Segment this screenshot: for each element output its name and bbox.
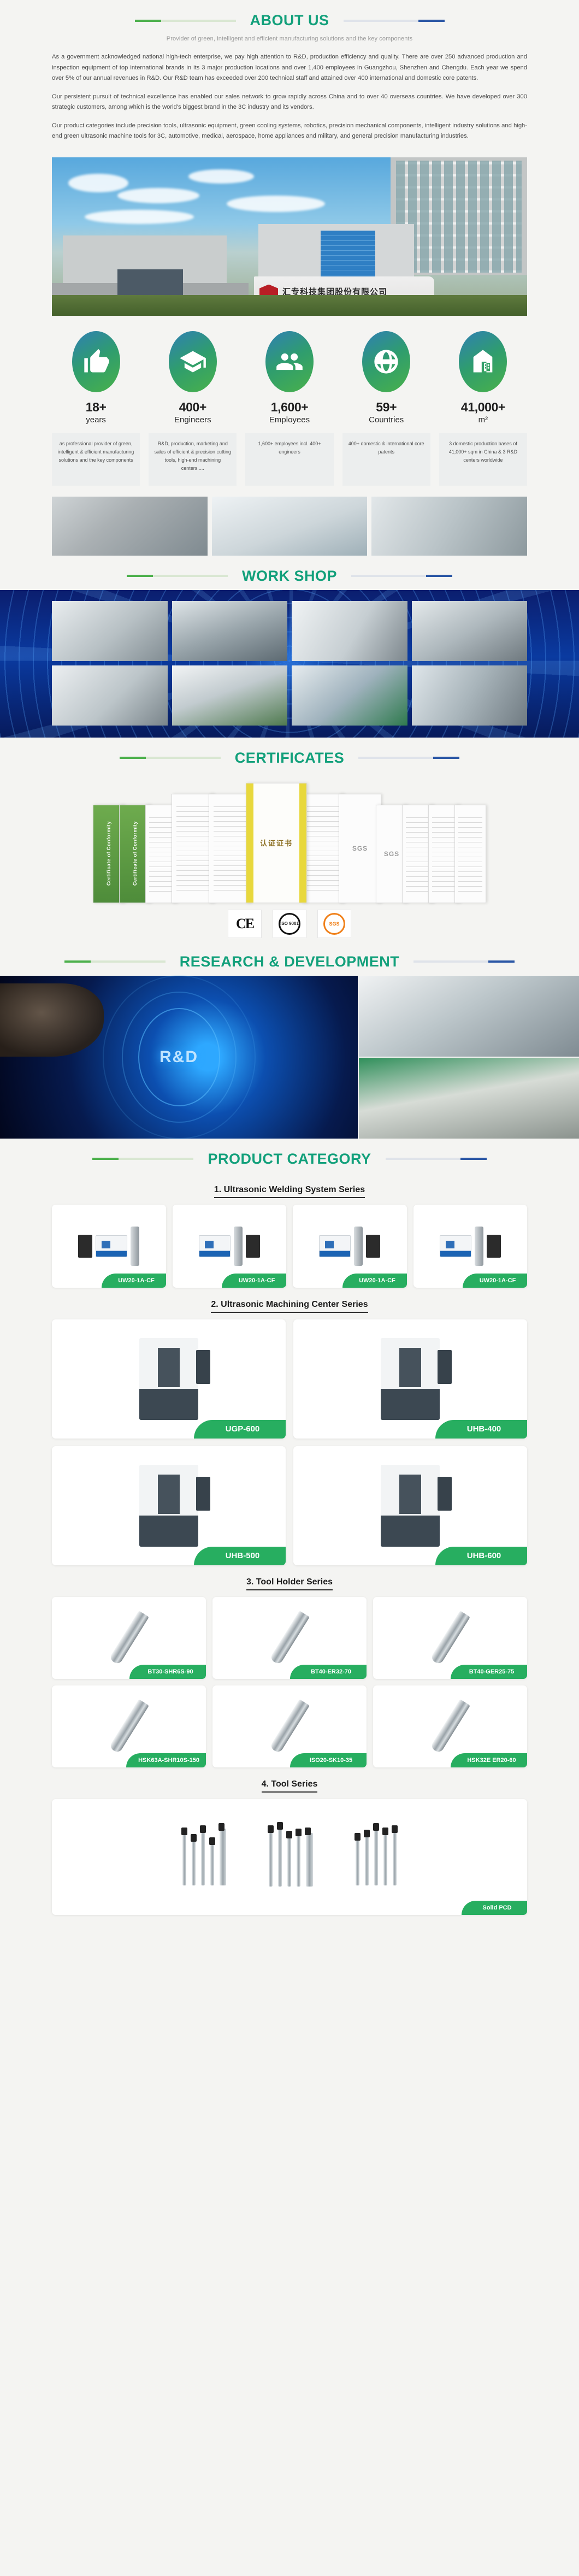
product-label: UW20-1A-CF [463, 1274, 527, 1288]
stat-label: years [52, 415, 140, 425]
iso-9001-logo: ISO 9001 [273, 910, 306, 938]
workshop-title: WORK SHOP [228, 568, 351, 585]
stat-description: as professional provider of green, intel… [52, 433, 140, 486]
product-row-welding: UW20-1A-CF UW20-1A-CF UW20-1A-CF UW20-1A… [52, 1205, 527, 1288]
product-row-machining-2: UHB-500 UHB-600 [52, 1446, 527, 1565]
product-group-heading: 3. Tool Holder Series [52, 1577, 527, 1587]
product-label: HSK63A-SHR10S-150 [126, 1753, 206, 1767]
photo-engineering-meeting [371, 497, 527, 556]
certificates-section-header: CERTIFICATES [0, 738, 579, 772]
product-card[interactable]: UW20-1A-CF [52, 1205, 166, 1288]
product-row-toolholder-2: HSK63A-SHR10S-150 ISO20-SK10-35 HSK32E E… [52, 1685, 527, 1767]
stat-label: Employees [245, 415, 333, 425]
product-label: HSK32E ER20-60 [451, 1753, 527, 1767]
rd-photo-team-inspection [359, 976, 579, 1057]
heading-rule-left [64, 960, 166, 963]
workshop-photo [52, 665, 168, 726]
products-title: PRODUCT CATEGORY [193, 1151, 385, 1168]
heading-rule-left [127, 575, 228, 577]
certificate-title-cn: 认证证书 [260, 838, 293, 848]
product-card[interactable]: UW20-1A-CF [173, 1205, 287, 1288]
heading-rule-right [386, 1158, 487, 1160]
heading-rule-left [92, 1158, 193, 1160]
heading-rule-right [351, 575, 452, 577]
stat-employees: 1,600+ Employees 1,600+ employees incl. … [245, 331, 333, 486]
product-label: UHB-600 [435, 1547, 527, 1565]
product-label: UHB-500 [194, 1547, 286, 1565]
workshop-photo [412, 665, 528, 726]
tool-bit-group [356, 1829, 397, 1885]
thumbs-up-icon [72, 331, 120, 392]
product-card[interactable]: ISO20-SK10-35 [212, 1685, 367, 1767]
stat-number: 59+ [342, 400, 430, 415]
product-card[interactable]: UGP-600 [52, 1319, 286, 1439]
office-photo-strip [0, 488, 579, 556]
about-paragraph-3: Our product categories include precision… [52, 121, 527, 142]
product-card[interactable]: UW20-1A-CF [293, 1205, 407, 1288]
product-card[interactable]: Solid PCD [52, 1799, 527, 1915]
product-label: UW20-1A-CF [222, 1274, 286, 1288]
product-label: ISO20-SK10-35 [290, 1753, 367, 1767]
certificates-title: CERTIFICATES [221, 750, 359, 767]
products-section-header: PRODUCT CATEGORY [0, 1139, 579, 1173]
product-label: UW20-1A-CF [342, 1274, 407, 1288]
company-profile-page: ABOUT US Provider of green, intelligent … [0, 0, 579, 1920]
stat-number: 400+ [149, 400, 237, 415]
headquarters-photo: 汇专科技集团股份有限公司 CONPROFE TECHNOLOGY GROUP C… [52, 157, 527, 316]
stat-years: 18+ years as professional provider of gr… [52, 331, 140, 486]
rd-title: RESEARCH & DEVELOPMENT [166, 953, 414, 970]
product-card[interactable]: UHB-600 [293, 1446, 527, 1565]
certificates-gallery: Certificate of Conformity Certificate of… [0, 772, 579, 941]
rd-person [0, 983, 104, 1057]
about-subtitle: Provider of green, intelligent and effic… [0, 36, 579, 42]
stat-description: 3 domestic production bases of 41,000+ s… [439, 433, 527, 486]
rd-hero-image: R&D [0, 976, 358, 1139]
stat-number: 1,600+ [245, 400, 333, 415]
graduation-cap-icon [169, 331, 217, 392]
about-title: ABOUT US [236, 12, 344, 29]
stat-countries: 59+ Countries 400+ domestic & internatio… [342, 331, 430, 486]
product-label: UW20-1A-CF [102, 1274, 166, 1288]
product-card[interactable]: HSK63A-SHR10S-150 [52, 1685, 206, 1767]
workshop-photo [172, 665, 288, 726]
stat-number: 18+ [52, 400, 140, 415]
product-label: BT40-GER25-75 [451, 1665, 527, 1679]
heading-rule-left [135, 20, 236, 22]
product-groups: 1. Ultrasonic Welding System Series UW20… [0, 1185, 579, 1920]
workshop-section-header: WORK SHOP [0, 556, 579, 590]
heading-rule-right [344, 20, 445, 22]
workshop-photo [292, 601, 407, 661]
blue-curtain-wall [321, 231, 375, 280]
certificate-page [454, 805, 486, 903]
product-group-heading: 2. Ultrasonic Machining Center Series [52, 1300, 527, 1310]
sgs-watermark: SGS [352, 845, 368, 852]
product-row-machining-1: UGP-600 UHB-400 [52, 1319, 527, 1439]
stat-area: 41,000+ m² 3 domestic production bases o… [439, 331, 527, 486]
certificate-page [302, 794, 344, 903]
rd-gallery: R&D [0, 976, 579, 1139]
stat-label: m² [439, 415, 527, 425]
rd-section-header: RESEARCH & DEVELOPMENT [0, 941, 579, 976]
product-card[interactable]: BT40-ER32-70 [212, 1597, 367, 1679]
stat-engineers: 400+ Engineers R&D, production, marketin… [149, 331, 237, 486]
product-card[interactable]: UHB-400 [293, 1319, 527, 1439]
about-body: As a government acknowledged national hi… [0, 42, 579, 153]
rd-photo-design-review [359, 1058, 579, 1139]
product-group-heading: 4. Tool Series [52, 1779, 527, 1789]
certificate-side-label: Certificate of Conformity [106, 821, 111, 886]
stat-number: 41,000+ [439, 400, 527, 415]
landscaping-hedge [52, 295, 527, 316]
tool-bit-group [269, 1828, 313, 1887]
globe-icon [362, 331, 410, 392]
sgs-logo: SGS [317, 910, 351, 938]
company-stats: 18+ years as professional provider of gr… [0, 316, 579, 488]
people-group-icon [265, 331, 314, 392]
product-group-heading: 1. Ultrasonic Welding System Series [52, 1185, 527, 1195]
rd-badge-label: R&D [159, 1048, 198, 1066]
stat-label: Engineers [149, 415, 237, 425]
stat-label: Countries [342, 415, 430, 425]
stat-description: 1,600+ employees incl. 400+ engineers [245, 433, 333, 486]
heading-rule-right [358, 757, 459, 759]
workshop-photo [412, 601, 528, 661]
product-label: BT40-ER32-70 [290, 1665, 367, 1679]
photo-showroom [212, 497, 368, 556]
certificate-page [172, 794, 214, 903]
certification-logos: CE ISO 9001 SGS [52, 910, 527, 938]
workshop-photo [172, 601, 288, 661]
product-card[interactable]: UW20-1A-CF [413, 1205, 528, 1288]
product-label: UGP-600 [194, 1420, 286, 1439]
stat-description: 400+ domestic & international core paten… [342, 433, 430, 486]
heading-rule-left [120, 757, 221, 759]
photo-lab-inspection [52, 497, 208, 556]
product-card[interactable]: HSK32E ER20-60 [373, 1685, 527, 1767]
factory-icon [459, 331, 507, 392]
certificate-side-label: Certificate of Conformity [132, 821, 138, 886]
product-label: BT30-SHR6S-90 [129, 1665, 206, 1679]
product-card[interactable]: BT40-GER25-75 [373, 1597, 527, 1679]
product-row-tools: Solid PCD [52, 1799, 527, 1915]
product-card[interactable]: UHB-500 [52, 1446, 286, 1565]
heading-rule-right [413, 960, 515, 963]
product-row-toolholder-1: BT30-SHR6S-90 BT40-ER32-70 BT40-GER25-75 [52, 1597, 527, 1679]
product-card[interactable]: BT30-SHR6S-90 [52, 1597, 206, 1679]
about-paragraph-1: As a government acknowledged national hi… [52, 52, 527, 84]
product-label: UHB-400 [435, 1420, 527, 1439]
certificate-iso9001-main: 认证证书 [246, 783, 307, 903]
certificate-sgs-1: SGS [339, 794, 381, 903]
workshop-photo [292, 665, 407, 726]
ce-mark-logo: CE [228, 910, 262, 938]
stat-description: R&D, production, marketing and sales of … [149, 433, 237, 486]
tool-bit-group [182, 1829, 226, 1885]
about-section-header: ABOUT US [0, 0, 579, 34]
certificate-page [209, 794, 251, 903]
about-paragraph-2: Our persistent pursuit of technical exce… [52, 92, 527, 113]
workshop-gallery [0, 590, 579, 738]
sgs-watermark: SGS [384, 850, 399, 858]
product-label: Solid PCD [462, 1901, 527, 1915]
workshop-photo [52, 601, 168, 661]
